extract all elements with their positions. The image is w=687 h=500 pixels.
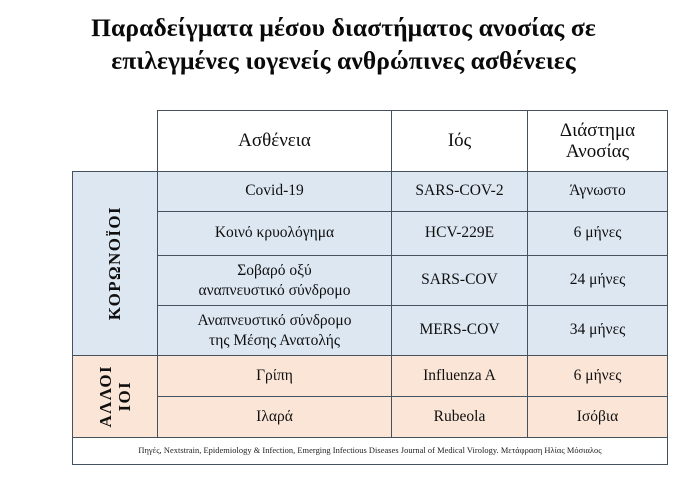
table: Ασθένεια Ιός Διάστημα Ανοσίας ΚΟΡΩΝΟΪΟΙ … [72, 110, 668, 465]
title-line-1: Παραδείγματα μέσου διαστήματος ανοσίας σ… [42, 12, 645, 45]
cell-disease: Γρίπη [158, 356, 392, 397]
section-label-other-viruses: ΑΛΛΟΙ ΙΟΙ [73, 356, 158, 438]
table-row: Σοβαρό οξύ αναπνευστικό σύνδρομο SARS-CO… [73, 256, 668, 306]
cell-interval: Άγνωστο [528, 172, 668, 212]
section-label-coronaviruses: ΚΟΡΩΝΟΪΟΙ [73, 172, 158, 356]
cell-interval: 6 μήνες [528, 212, 668, 256]
cell-disease: Κοινό κρυολόγημα [158, 212, 392, 256]
cell-interval: 34 μήνες [528, 306, 668, 356]
cell-virus: MERS-COV [392, 306, 528, 356]
cell-interval: 24 μήνες [528, 256, 668, 306]
table-header-row: Ασθένεια Ιός Διάστημα Ανοσίας [73, 111, 668, 172]
cell-interval: 6 μήνες [528, 356, 668, 397]
cell-virus: Influenza A [392, 356, 528, 397]
title-line-2: επιλεγμένες ιογενείς ανθρώπινες ασθένειε… [42, 45, 645, 78]
table-row: ΚΟΡΩΝΟΪΟΙ Covid-19 SARS-COV-2 Άγνωστο [73, 172, 668, 212]
header-cell-virus: Ιός [392, 111, 528, 172]
cell-virus: HCV-229E [392, 212, 528, 256]
section-label-text: ΚΟΡΩΝΟΪΟΙ [105, 206, 124, 320]
table-row: Αναπνευστικό σύνδρομο της Μέσης Ανατολής… [73, 306, 668, 356]
table-sources-row: Πηγές, Nextstrain, Epidemiology & Infect… [73, 438, 668, 465]
header-cell-category-blank [73, 111, 158, 172]
table-row: Ιλαρά Rubeola Ισόβια [73, 397, 668, 438]
section-label-text: ΑΛΛΟΙ ΙΟΙ [96, 365, 134, 428]
header-cell-immunity-interval: Διάστημα Ανοσίας [528, 111, 668, 172]
table-row: ΑΛΛΟΙ ΙΟΙ Γρίπη Influenza A 6 μήνες [73, 356, 668, 397]
sources-note: Πηγές, Nextstrain, Epidemiology & Infect… [73, 438, 668, 465]
cell-virus: SARS-COV-2 [392, 172, 528, 212]
cell-disease: Ιλαρά [158, 397, 392, 438]
infographic-page: Παραδείγματα μέσου διαστήματος ανοσίας σ… [0, 0, 687, 500]
cell-interval: Ισόβια [528, 397, 668, 438]
header-cell-disease: Ασθένεια [158, 111, 392, 172]
cell-disease: Covid-19 [158, 172, 392, 212]
page-title: Παραδείγματα μέσου διαστήματος ανοσίας σ… [0, 0, 687, 78]
cell-virus: SARS-COV [392, 256, 528, 306]
immunity-interval-table: Ασθένεια Ιός Διάστημα Ανοσίας ΚΟΡΩΝΟΪΟΙ … [72, 110, 667, 465]
cell-virus: Rubeola [392, 397, 528, 438]
table-row: Κοινό κρυολόγημα HCV-229E 6 μήνες [73, 212, 668, 256]
cell-disease: Αναπνευστικό σύνδρομο της Μέσης Ανατολής [158, 306, 392, 356]
cell-disease: Σοβαρό οξύ αναπνευστικό σύνδρομο [158, 256, 392, 306]
